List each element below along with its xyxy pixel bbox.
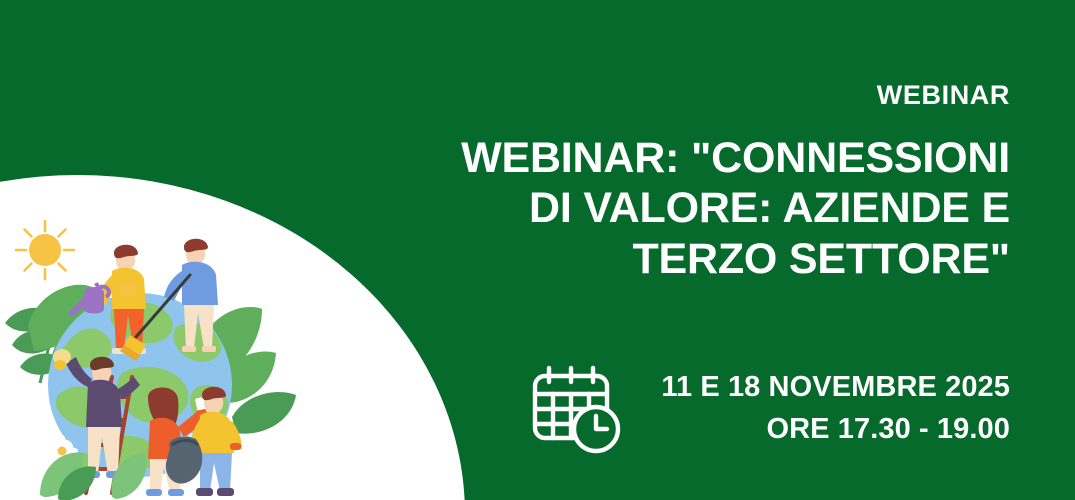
eyebrow-label: WEBINAR — [877, 82, 1010, 109]
time-line: ORE 17.30 - 19.00 — [661, 408, 1010, 450]
webinar-banner: WEBINAR WEBINAR: "CONNESSIONI DI VALORE:… — [0, 0, 1075, 500]
sun-icon — [16, 221, 74, 279]
date-time-text: 11 E 18 NOVEMBRE 2025 ORE 17.30 - 19.00 — [661, 366, 1010, 450]
calendar-clock-icon — [525, 358, 625, 458]
date-time-block: 11 E 18 NOVEMBRE 2025 ORE 17.30 - 19.00 — [525, 358, 1010, 458]
banner-text-column: WEBINAR WEBINAR: "CONNESSIONI DI VALORE:… — [410, 0, 1010, 500]
people-caring-for-earth-illustration — [0, 205, 300, 500]
date-line: 11 E 18 NOVEMBRE 2025 — [661, 366, 1010, 408]
trash-bag — [166, 437, 202, 484]
page-title: WEBINAR: "CONNESSIONI DI VALORE: AZIENDE… — [410, 133, 1010, 284]
